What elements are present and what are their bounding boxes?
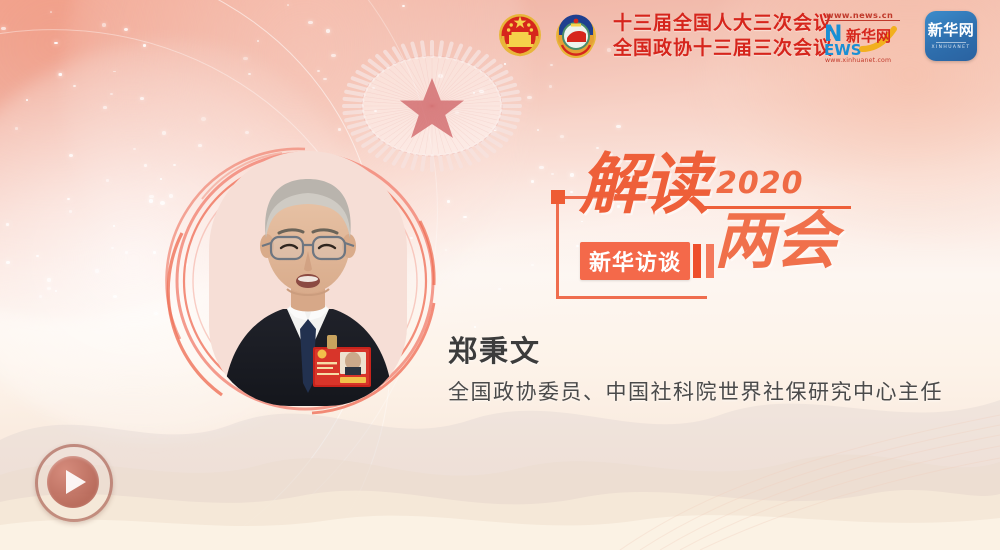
bg-dot [447,200,451,203]
bg-dot [374,110,377,112]
bg-dot [149,195,153,198]
bg-dot [55,290,58,292]
bg-dot [6,261,10,264]
bg-dot [39,295,42,298]
conference-title: 十三届全国人大三次会议 全国政协十三届三次会议 [613,11,833,61]
bg-dot [153,251,156,253]
logo-bottom-url: www.xinhuanet.com [825,57,891,63]
program-title-block: 解读 2020 两会 新华访谈 [556,158,856,308]
app-logo-cn-name: 新华网 [928,22,975,39]
bg-dot [111,247,114,249]
guest-photo [209,151,407,406]
conference-title-line1: 十三届全国人大三次会议 [613,11,833,36]
bg-dot [110,93,113,95]
guest-title: 全国政协委员、中国社科院世界社保研究中心主任 [448,376,943,406]
bg-dot [539,166,544,170]
bg-dot [323,78,327,81]
bg-dot [438,74,443,78]
bg-dot [47,287,51,290]
play-button[interactable] [35,444,111,520]
program-badge-label: 新华访谈 [589,251,681,276]
conference-title-line2: 全国政协十三届三次会议 [613,36,833,61]
bg-dot [36,255,39,257]
bg-dot [113,225,115,227]
bg-dot [531,264,534,266]
bg-dot [445,249,448,251]
bg-dot [372,87,375,89]
bg-dot [47,278,51,281]
title-bracket-square [551,190,565,204]
bg-dot [338,128,341,131]
emblem-group [497,12,599,58]
bg-dot [248,73,251,75]
bg-dot [498,288,501,290]
bg-dot [527,96,532,100]
app-logo-divider [936,42,966,43]
bg-dot [69,210,72,212]
bg-dot [69,154,74,157]
bg-dot [455,111,460,114]
bg-dot [125,251,128,253]
prc-national-emblem-icon [497,12,543,58]
cppcc-emblem-icon [553,12,599,58]
bg-dot [58,73,62,76]
bg-dot [95,269,99,272]
poster-header: 十三届全国人大三次会议 全国政协十三届三次会议 www.news.cn N EW… [0,0,1000,72]
bg-dot [549,85,553,88]
bg-dot [15,127,18,130]
play-triangle-icon [66,470,86,494]
bg-dot [59,73,63,76]
title-tick-2 [706,244,714,278]
interview-poster: 十三届全国人大三次会议 全国政协十三届三次会议 www.news.cn N EW… [0,0,1000,550]
bg-dot [6,223,9,225]
bg-dot [531,180,535,183]
logo-cn-name: 新华网 [846,27,891,45]
xinhuanet-app-logo[interactable]: 新华网 XINHUANET [925,11,977,61]
bg-dot [73,85,76,87]
bg-dot [67,198,70,200]
bg-dot [560,135,563,138]
bg-dot [154,312,158,315]
bg-dot [133,148,136,150]
bg-dot [103,106,106,109]
title-main: 解读 [579,152,707,218]
app-logo-pinyin: XINHUANET [931,45,970,50]
bg-dot [106,179,109,181]
guest-name: 郑秉文 [448,328,541,370]
logo-top-url: www.news.cn [826,10,893,20]
bg-dot [201,117,206,121]
bg-dot [149,199,154,203]
xinhuanet-logo-icon: www.news.cn N EWS 新华网 www.xinhuanet.com [820,9,916,63]
bg-dot [473,92,475,94]
xinhuanet-logo[interactable]: www.news.cn N EWS 新华网 www.xinhuanet.com [820,9,916,63]
title-tick-1 [693,244,701,278]
bg-dot [616,125,621,129]
bg-dot [479,90,484,94]
bg-dot [144,164,148,167]
bg-dot [140,97,144,100]
program-badge: 新华访谈 [580,242,690,280]
bg-dot [493,128,497,131]
bg-dot [551,173,554,175]
bg-dot [113,295,117,298]
bg-dot [463,216,466,219]
bg-dot [537,129,539,131]
guest-portrait [162,133,442,423]
guest-photo-image [209,151,407,406]
title-secondary: 两会 [714,210,836,272]
title-year: 2020 [716,166,804,201]
bg-dot [26,99,29,101]
